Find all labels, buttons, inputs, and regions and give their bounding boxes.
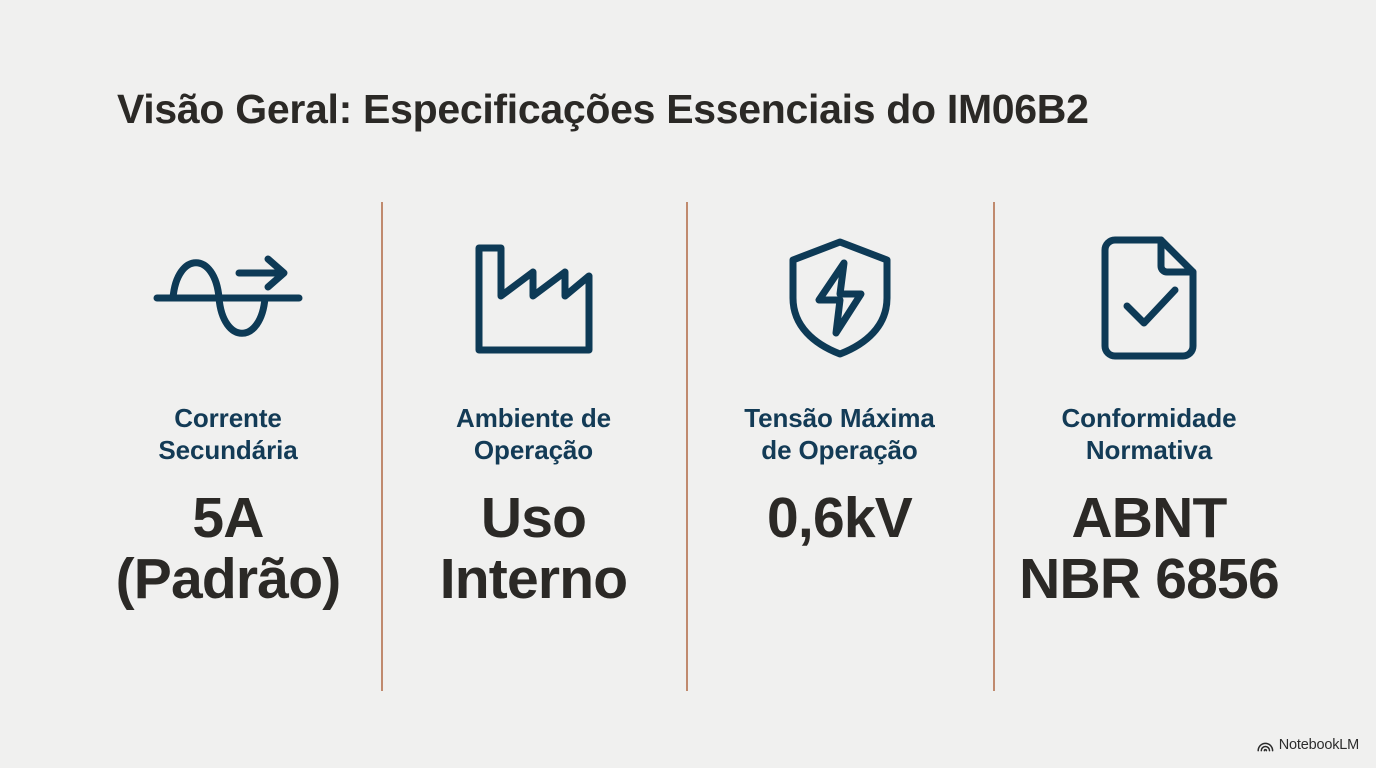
spec-value: 0,6kV (767, 488, 912, 548)
sine-wave-arrow-icon (153, 232, 303, 364)
notebooklm-label: NotebookLM (1279, 737, 1359, 753)
factory-icon (469, 232, 599, 364)
spec-columns: Corrente Secundária 5A (Padrão) Ambiente… (75, 200, 1305, 695)
spec-label: Ambiente de Operação (456, 402, 611, 466)
spec-column-conformidade-normativa: Conformidade Normativa ABNT NBR 6856 (993, 200, 1305, 695)
spec-column-corrente-secundaria: Corrente Secundária 5A (Padrão) (75, 200, 381, 695)
document-check-icon (1099, 232, 1199, 364)
notebooklm-logo-icon (1257, 738, 1274, 752)
shield-lightning-icon (786, 232, 894, 364)
spec-value: 5A (Padrão) (116, 488, 341, 609)
page-title: Visão Geral: Especificações Essenciais d… (117, 86, 1297, 133)
spec-label: Conformidade Normativa (1061, 402, 1236, 466)
spec-value: Uso Interno (440, 488, 628, 609)
spec-label: Tensão Máxima de Operação (744, 402, 934, 466)
spec-value: ABNT NBR 6856 (1019, 488, 1279, 609)
slide-canvas: Visão Geral: Especificações Essenciais d… (0, 0, 1376, 768)
spec-column-tensao-maxima: Tensão Máxima de Operação 0,6kV (686, 200, 993, 695)
spec-label: Corrente Secundária (158, 402, 297, 466)
notebooklm-watermark: NotebookLM (1257, 737, 1359, 753)
spec-column-ambiente-de-operacao: Ambiente de Operação Uso Interno (381, 200, 686, 695)
